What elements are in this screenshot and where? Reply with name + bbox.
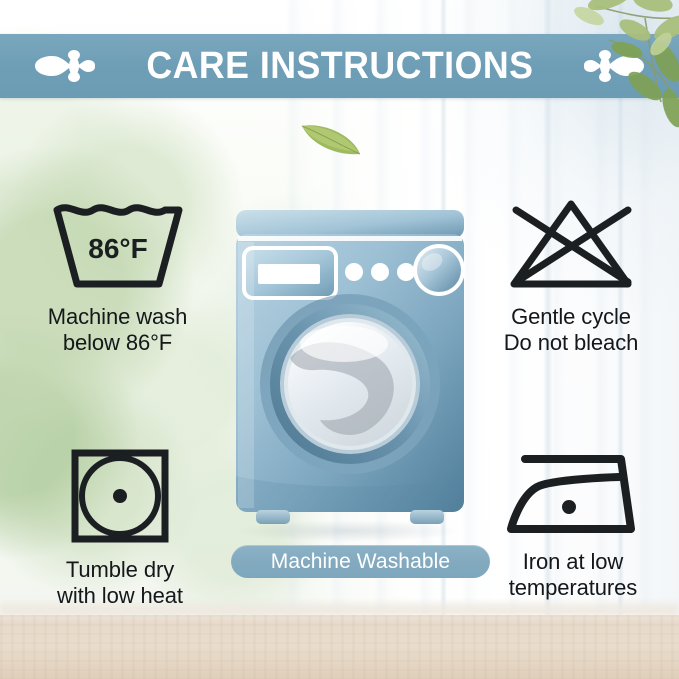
washing-machine-illustration — [228, 208, 472, 530]
header-banner: CARE INSTRUCTIONS — [0, 34, 679, 98]
symbol-do-not-bleach: Gentle cycle Do not bleach — [466, 196, 676, 355]
crossed-triangle-icon — [498, 196, 644, 297]
symbol-machine-wash: 86°F Machine wash below 86°F — [10, 196, 225, 355]
machine-washable-badge: Machine Washable — [231, 545, 490, 578]
iron-icon — [503, 447, 643, 542]
machine-button — [397, 263, 415, 281]
symbol-caption: Gentle cycle Do not bleach — [504, 304, 638, 355]
machine-button — [371, 263, 389, 281]
symbol-caption: Tumble dry with low heat — [57, 557, 183, 608]
wooden-table-surface — [0, 615, 679, 679]
machine-foot — [410, 510, 444, 524]
symbol-tumble-dry-low: Tumble dry with low heat — [14, 447, 226, 608]
floating-leaf-icon — [298, 118, 364, 158]
symbol-iron-low: Iron at low temperatures — [470, 447, 676, 600]
machine-foot — [256, 510, 290, 524]
symbol-caption: Iron at low temperatures — [509, 549, 637, 600]
page-title: CARE INSTRUCTIONS — [146, 47, 533, 85]
tumble-dry-icon — [69, 447, 171, 550]
machine-button — [345, 263, 363, 281]
fleur-de-lis-ornament-left-icon — [32, 43, 116, 89]
wash-temperature-label: 86°F — [88, 233, 147, 264]
machine-washable-label: Machine Washable — [271, 551, 450, 572]
wash-tub-icon: 86°F — [43, 196, 193, 297]
care-instructions-infographic: CARE INSTRUCTIONS — [0, 0, 679, 679]
fleur-de-lis-ornament-right-icon — [563, 43, 647, 89]
symbol-caption: Machine wash below 86°F — [48, 304, 187, 355]
